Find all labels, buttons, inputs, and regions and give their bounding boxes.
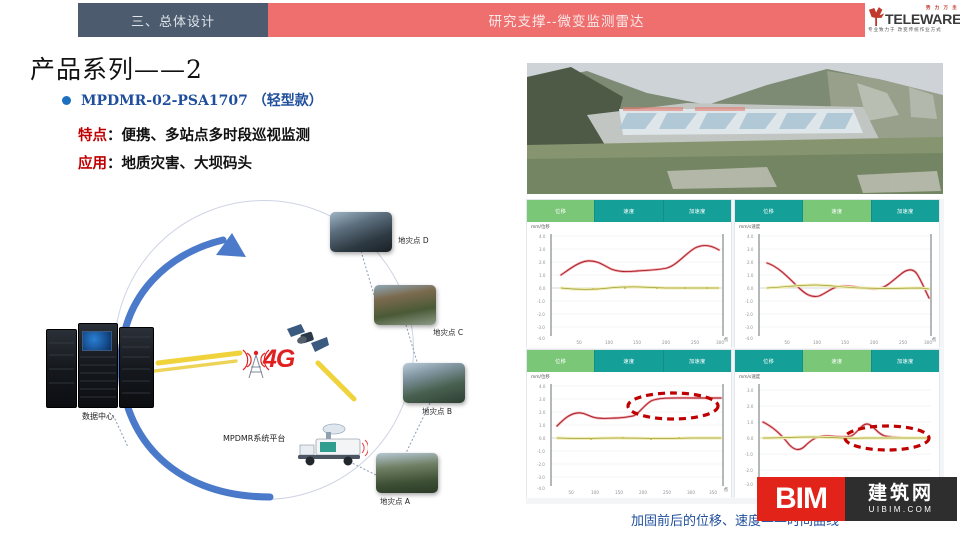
- svg-text:2.0: 2.0: [539, 260, 546, 265]
- watermark: BIM 建筑网 UIBIM.COM: [757, 477, 957, 521]
- svg-text:-2.0: -2.0: [745, 312, 753, 317]
- svg-text:-1.0: -1.0: [745, 452, 753, 457]
- svg-text:-4.0: -4.0: [745, 336, 753, 341]
- chart-1-tab-1[interactable]: 速度: [595, 200, 663, 222]
- svg-text:2.0: 2.0: [747, 260, 754, 265]
- chart-grid: 位移 速度 加速度 mm/位移 点 4.03.02.0 1.00.0-1.0 -…: [526, 199, 944, 504]
- svg-text:300: 300: [924, 340, 932, 345]
- chart-3-tabs[interactable]: 位移 速度 加速度: [527, 350, 731, 372]
- application-value: 地质灾害、大坝码头: [122, 155, 253, 172]
- svg-text:-3.0: -3.0: [537, 325, 545, 330]
- site-label-a: 地灾点 A: [380, 496, 410, 507]
- svg-text:-4.0: -4.0: [537, 336, 545, 341]
- bird-logo-icon: [868, 7, 886, 27]
- chart-card-2: 位移 速度 加速度 mm/s速度 点 4.03.02.0 1.00.0-1.0 …: [734, 199, 940, 347]
- svg-text:4.0: 4.0: [747, 234, 754, 239]
- svg-text:4.0: 4.0: [539, 234, 546, 239]
- svg-text:-1.0: -1.0: [745, 299, 753, 304]
- svg-text:150: 150: [633, 340, 641, 345]
- dam-photo-art: [527, 63, 943, 194]
- application-sep: ：: [107, 155, 122, 172]
- svg-text:-1.0: -1.0: [537, 299, 545, 304]
- network-topology-diagram: 数据中心 4G: [18, 185, 513, 525]
- network-node-4g: 4G: [233, 323, 343, 398]
- chart-1-plot: mm/位移 点 4.03.02.0 1.00.0-1.0 -2.0-3.0-4.…: [527, 222, 731, 348]
- svg-text:200: 200: [870, 340, 878, 345]
- teleware-logo: TELEWARE 势 力 万 圭 专业致力于 改变传统作业方式: [866, 1, 960, 39]
- watermark-right: 建筑网 UIBIM.COM: [845, 477, 957, 521]
- header-section-label: 三、总体设计: [78, 3, 268, 37]
- chart-3-svg: 4.03.02.0 1.00.0-1.0 -2.0-3.0-4.0 501001…: [527, 372, 733, 498]
- chart-2-tab-0[interactable]: 位移: [735, 200, 803, 222]
- chart-4-tabs[interactable]: 位移 速度 加速度: [735, 350, 939, 372]
- svg-text:150: 150: [615, 490, 623, 495]
- application-label: 应用: [78, 155, 107, 172]
- chart-1-tab-0[interactable]: 位移: [527, 200, 595, 222]
- svg-text:-3.0: -3.0: [537, 475, 545, 480]
- svg-text:-3.0: -3.0: [745, 482, 753, 487]
- svg-text:50: 50: [784, 340, 790, 345]
- svg-text:3.0: 3.0: [747, 388, 754, 393]
- header-title: 研究支撑--微变监测雷达: [268, 3, 865, 37]
- chart-card-1: 位移 速度 加速度 mm/位移 点 4.03.02.0 1.00.0-1.0 -…: [526, 199, 732, 347]
- watermark-bim: BIM: [757, 477, 845, 521]
- svg-text:50: 50: [576, 340, 582, 345]
- logo-wordmark: TELEWARE: [885, 12, 960, 27]
- rack-detail-lines: [46, 323, 154, 408]
- watermark-url: UIBIM.COM: [869, 505, 934, 514]
- chart-card-4: 位移 速度 加速度 mm/s速度 点 3.02.01.0 0.0-1.0-2.0…: [734, 349, 940, 497]
- svg-text:0.0: 0.0: [747, 436, 754, 441]
- svg-text:100: 100: [605, 340, 613, 345]
- svg-text:300: 300: [716, 340, 724, 345]
- svg-text:1.0: 1.0: [539, 423, 546, 428]
- dam-site-photo: [527, 63, 943, 194]
- header-left-spacer: [0, 3, 78, 37]
- watermark-cn: 建筑网: [868, 484, 934, 503]
- chart-2-tab-1[interactable]: 速度: [803, 200, 871, 222]
- data-center-label: 数据中心: [38, 411, 158, 422]
- page-title: 产品系列——2: [30, 50, 203, 86]
- chart-4-tab-0[interactable]: 位移: [735, 350, 803, 372]
- site-label-b: 地灾点 B: [422, 406, 452, 417]
- satellite-icon: [285, 323, 329, 357]
- svg-text:350: 350: [709, 490, 717, 495]
- svg-text:50: 50: [568, 490, 574, 495]
- logo-cn-top: 势 力 万 圭: [926, 5, 958, 11]
- svg-text:250: 250: [899, 340, 907, 345]
- chart-3-tab-2[interactable]: 加速度: [664, 350, 731, 372]
- radar-truck-icon: [296, 423, 368, 467]
- model-code: MPDMR-02-PSA1707: [81, 93, 248, 109]
- svg-text:-2.0: -2.0: [537, 462, 545, 467]
- chart-1-tab-2[interactable]: 加速度: [664, 200, 731, 222]
- chart-3-plot: mm/位移 点 4.03.02.0 1.00.0-1.0 -2.0-3.0-4.…: [527, 372, 731, 498]
- features-sep: ：: [107, 127, 122, 144]
- features-row: 特点：便携、多站点多时段巡视监测: [78, 124, 310, 145]
- chart-3-tab-0[interactable]: 位移: [527, 350, 595, 372]
- chart-4-tab-1[interactable]: 速度: [803, 350, 871, 372]
- page-header: 三、总体设计 研究支撑--微变监测雷达 TELEWARE 势 力 万 圭 专业致…: [0, 0, 960, 40]
- svg-text:3.0: 3.0: [539, 397, 546, 402]
- site-label-d: 地灾点 D: [398, 235, 429, 246]
- chart-3-tab-1[interactable]: 速度: [595, 350, 663, 372]
- features-value: 便携、多站点多时段巡视监测: [122, 127, 311, 144]
- chart-1-svg: 4.03.02.0 1.00.0-1.0 -2.0-3.0-4.0 501001…: [527, 222, 733, 348]
- logo-tagline: 专业致力于 改变传统作业方式: [868, 27, 942, 33]
- application-row: 应用：地质灾害、大坝码头: [78, 152, 252, 173]
- svg-text:-4.0: -4.0: [537, 486, 545, 491]
- site-thumbnail-d: [330, 212, 392, 252]
- svg-text:-2.0: -2.0: [537, 312, 545, 317]
- svg-text:0.0: 0.0: [539, 436, 546, 441]
- svg-text:-2.0: -2.0: [745, 468, 753, 473]
- svg-text:0.0: 0.0: [747, 286, 754, 291]
- svg-text:200: 200: [639, 490, 647, 495]
- site-thumbnail-b: [403, 363, 465, 403]
- svg-text:100: 100: [813, 340, 821, 345]
- site-thumbnail-a: [376, 453, 438, 493]
- svg-text:3.0: 3.0: [747, 247, 754, 252]
- svg-text:150: 150: [841, 340, 849, 345]
- svg-text:1.0: 1.0: [539, 273, 546, 278]
- svg-text:2.0: 2.0: [747, 404, 754, 409]
- svg-text:300: 300: [687, 490, 695, 495]
- svg-text:3.0: 3.0: [539, 247, 546, 252]
- svg-text:250: 250: [691, 340, 699, 345]
- svg-text:1.0: 1.0: [747, 273, 754, 278]
- site-label-c: 地灾点 C: [433, 327, 463, 338]
- server-rack-icon: [46, 323, 154, 408]
- chart-2-tab-2[interactable]: 加速度: [872, 200, 939, 222]
- model-bullet: MPDMR-02-PSA1707 （轻型款）: [62, 90, 323, 110]
- svg-text:-1.0: -1.0: [537, 449, 545, 454]
- svg-text:1.0: 1.0: [747, 420, 754, 425]
- chart-2-tabs[interactable]: 位移 速度 加速度: [735, 200, 939, 222]
- bullet-dot-icon: [62, 96, 71, 105]
- chart-1-tabs[interactable]: 位移 速度 加速度: [527, 200, 731, 222]
- svg-text:0.0: 0.0: [539, 286, 546, 291]
- svg-text:2.0: 2.0: [539, 410, 546, 415]
- chart-2-svg: 4.03.02.0 1.00.0-1.0 -2.0-3.0-4.0 501001…: [735, 222, 941, 348]
- site-thumbnail-c: [374, 285, 436, 325]
- chart-card-3: 位移 速度 加速度 mm/位移 点 4.03.02.0 1.00.0-1.0 -…: [526, 349, 732, 497]
- svg-text:250: 250: [663, 490, 671, 495]
- model-variant: （轻型款）: [253, 93, 323, 109]
- svg-text:-3.0: -3.0: [745, 325, 753, 330]
- platform-label: MPDMR系统平台: [223, 433, 285, 444]
- svg-text:100: 100: [591, 490, 599, 495]
- svg-text:4.0: 4.0: [539, 384, 546, 389]
- svg-text:200: 200: [662, 340, 670, 345]
- features-label: 特点: [78, 127, 107, 144]
- chart-2-plot: mm/s速度 点 4.03.02.0 1.00.0-1.0 -2.0-3.0-4…: [735, 222, 939, 348]
- chart-4-tab-2[interactable]: 加速度: [872, 350, 939, 372]
